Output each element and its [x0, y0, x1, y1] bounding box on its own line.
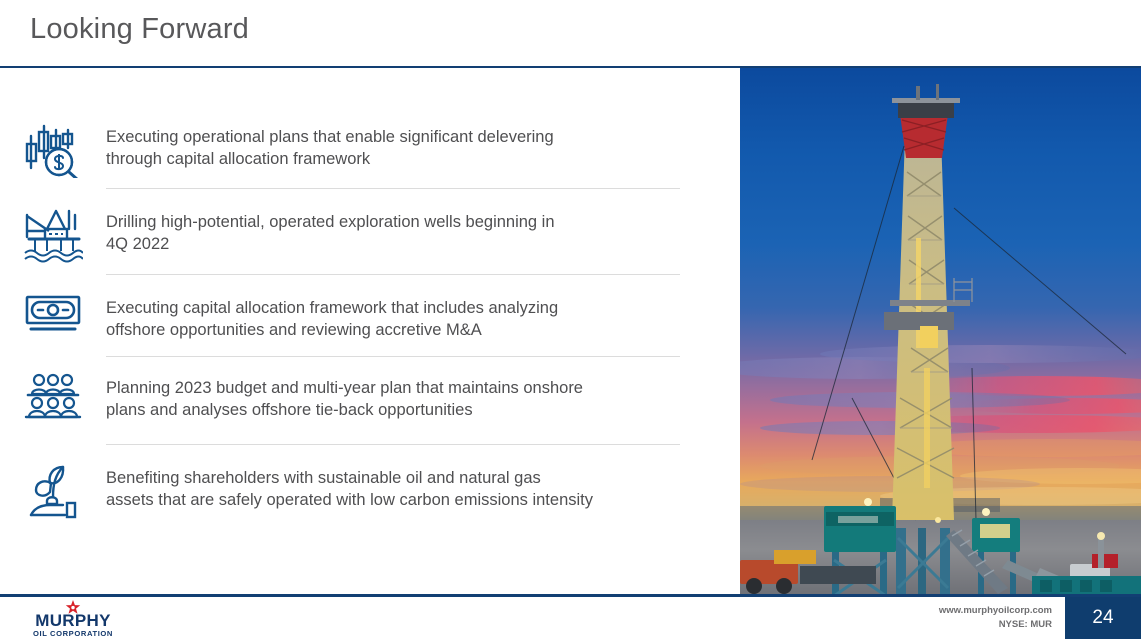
list-item-line: plans and analyses offshore tie-back opp…	[106, 399, 690, 421]
list-item-line: through capital allocation framework	[106, 148, 690, 170]
item-divider	[106, 188, 680, 189]
item-divider	[106, 444, 680, 445]
slide-header: Looking Forward	[0, 0, 1141, 67]
list-item: Drilling high-potential, operated explor…	[0, 205, 740, 283]
list-item-line: Executing capital allocation framework t…	[106, 297, 690, 319]
item-divider	[106, 274, 680, 275]
svg-text:OIL CORPORATION: OIL CORPORATION	[33, 629, 113, 638]
list-item-line: Executing operational plans that enable …	[106, 126, 690, 148]
footer-company-info: www.murphyoilcorp.com NYSE: MUR	[939, 604, 1052, 632]
list-item: Executing operational plans that enable …	[0, 120, 740, 198]
hand-plant-sprout-icon	[0, 461, 106, 519]
people-group-icon	[0, 371, 106, 419]
candlestick-chart-magnifier-dollar-icon	[0, 120, 106, 178]
list-item: Executing capital allocation framework t…	[0, 291, 740, 369]
list-item-line: 4Q 2022	[106, 233, 690, 255]
list-item: Planning 2023 budget and multi-year plan…	[0, 371, 740, 449]
svg-text:MURPHY: MURPHY	[35, 611, 111, 630]
murphy-oil-logo: MURPHY OIL CORPORATION	[27, 599, 119, 639]
list-item-line: Planning 2023 budget and multi-year plan…	[106, 377, 690, 399]
list-item-text: Executing capital allocation framework t…	[106, 291, 740, 341]
stock-ticker: NYSE: MUR	[939, 618, 1052, 632]
page-number-box: 24	[1065, 597, 1141, 639]
offshore-platform-icon	[0, 205, 106, 263]
list-item-line: offshore opportunities and reviewing acc…	[106, 319, 690, 341]
list-item-text: Benefiting shareholders with sustainable…	[106, 461, 740, 511]
slide: Looking Forward	[0, 0, 1141, 639]
list-item-line: Drilling high-potential, operated explor…	[106, 211, 690, 233]
slide-footer: MURPHY OIL CORPORATION www.murphyoilcorp…	[0, 597, 1141, 639]
list-item-line: assets that are safely operated with low…	[106, 489, 690, 511]
drilling-rig-photo	[740, 68, 1141, 594]
list-item-text: Drilling high-potential, operated explor…	[106, 205, 740, 255]
list-item: Benefiting shareholders with sustainable…	[0, 461, 740, 539]
page-title: Looking Forward	[30, 13, 249, 46]
item-divider	[106, 356, 680, 357]
website-url[interactable]: www.murphyoilcorp.com	[939, 604, 1052, 618]
page-number: 24	[1092, 607, 1113, 629]
bullet-list: Executing operational plans that enable …	[0, 68, 740, 594]
list-item-text: Planning 2023 budget and multi-year plan…	[106, 371, 740, 421]
list-item-line: Benefiting shareholders with sustainable…	[106, 467, 690, 489]
banknote-icon	[0, 291, 106, 335]
list-item-text: Executing operational plans that enable …	[106, 120, 740, 170]
